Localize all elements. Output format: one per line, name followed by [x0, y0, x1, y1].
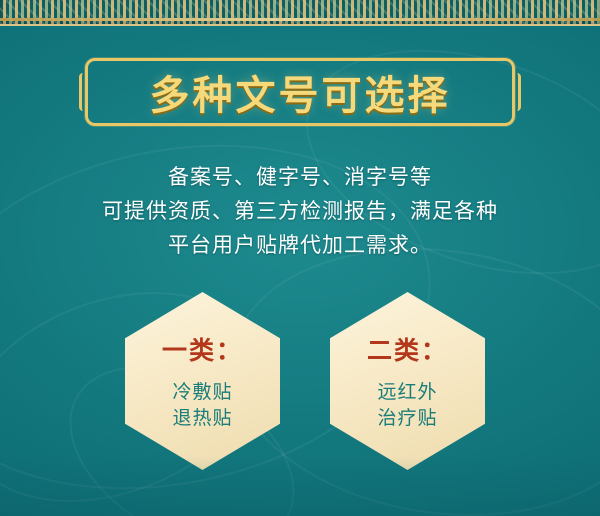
category-card-one-title: 一类： — [162, 331, 243, 367]
category-card-two-items: 远红外 治疗贴 — [377, 379, 437, 431]
description-line-1: 备案号、健字号、消字号等 — [0, 160, 600, 194]
category-card-one-item-1: 冷敷贴 — [172, 379, 232, 405]
category-card-one-items: 冷敷贴 退热贴 — [172, 379, 232, 431]
page-title: 多种文号可选择 — [85, 58, 515, 126]
ornamental-border-line — [0, 18, 600, 21]
description-line-3: 平台用户贴牌代加工需求。 — [0, 228, 600, 262]
description-line-2: 可提供资质、第三方检测报告，满足各种 — [0, 194, 600, 228]
ornamental-top-border — [0, 0, 600, 26]
category-card-one-item-2: 退热贴 — [172, 405, 232, 431]
category-card-two-item-2: 治疗贴 — [377, 405, 437, 431]
promotional-poster: 多种文号可选择 备案号、健字号、消字号等 可提供资质、第三方检测报告，满足各种 … — [0, 0, 600, 516]
category-card-two-title: 二类： — [367, 331, 448, 367]
title-plaque: 多种文号可选择 — [85, 58, 515, 126]
category-card-two-item-1: 远红外 — [377, 379, 437, 405]
description-block: 备案号、健字号、消字号等 可提供资质、第三方检测报告，满足各种 平台用户贴牌代加… — [0, 160, 600, 262]
